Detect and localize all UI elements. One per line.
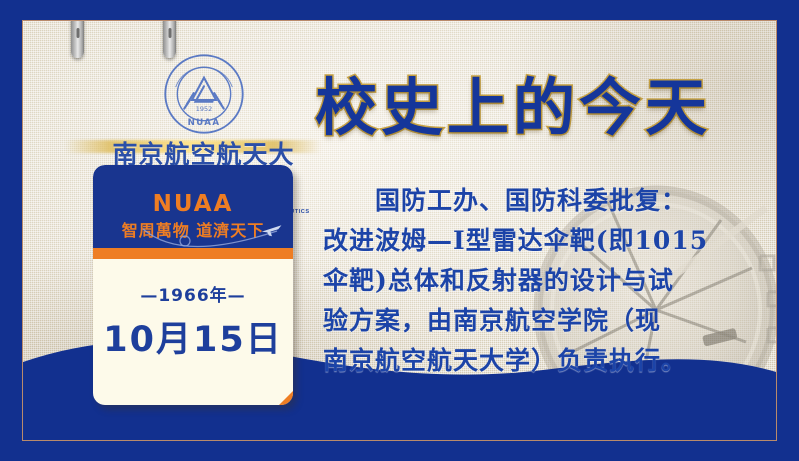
svg-text:NUAA: NUAA (187, 118, 220, 128)
description-line-1: 国防工办、国防科委批复： (323, 181, 777, 221)
page-title: 校史上的今天 (315, 57, 711, 147)
description-line-5: 南京航空航天大学）负责执行。 (323, 341, 777, 381)
calendar-header: NUAA 智周萬物 道濟天下 (93, 165, 293, 248)
calendar-brand: NUAA (93, 191, 293, 217)
nuaa-seal-icon: 1952 NUAA (161, 51, 247, 137)
calendar-clip-left (71, 20, 84, 58)
description-line-3: 伞靶)总体和反射器的设计与试 (323, 261, 777, 301)
calendar-body: —1966年— 10月15日 (93, 281, 293, 405)
folded-corner (257, 391, 293, 405)
calendar-card: NUAA 智周萬物 道濟天下 —1966年— 10月15日 (93, 165, 293, 405)
description-line-4: 验方案，由南京航空学院（现 (323, 301, 777, 341)
calendar-year: —1966年— (93, 281, 293, 306)
description-line-2: 改进波姆—I型雷达伞靶(即1015 (323, 221, 777, 261)
event-description: 国防工办、国防科委批复： 改进波姆—I型雷达伞靶(即1015 伞靶)总体和反射器… (323, 181, 777, 381)
poster-root: 1952 NUAA 南京航空航天大學 NANJING UNIVERSITY OF… (0, 0, 799, 461)
calendar-clip-right (163, 20, 176, 58)
airplane-icon (261, 222, 283, 238)
poster-frame: 1952 NUAA 南京航空航天大學 NANJING UNIVERSITY OF… (22, 20, 777, 441)
flight-path-swoosh (141, 227, 281, 251)
svg-text:1952: 1952 (195, 105, 211, 113)
calendar-date: 10月15日 (93, 311, 293, 362)
